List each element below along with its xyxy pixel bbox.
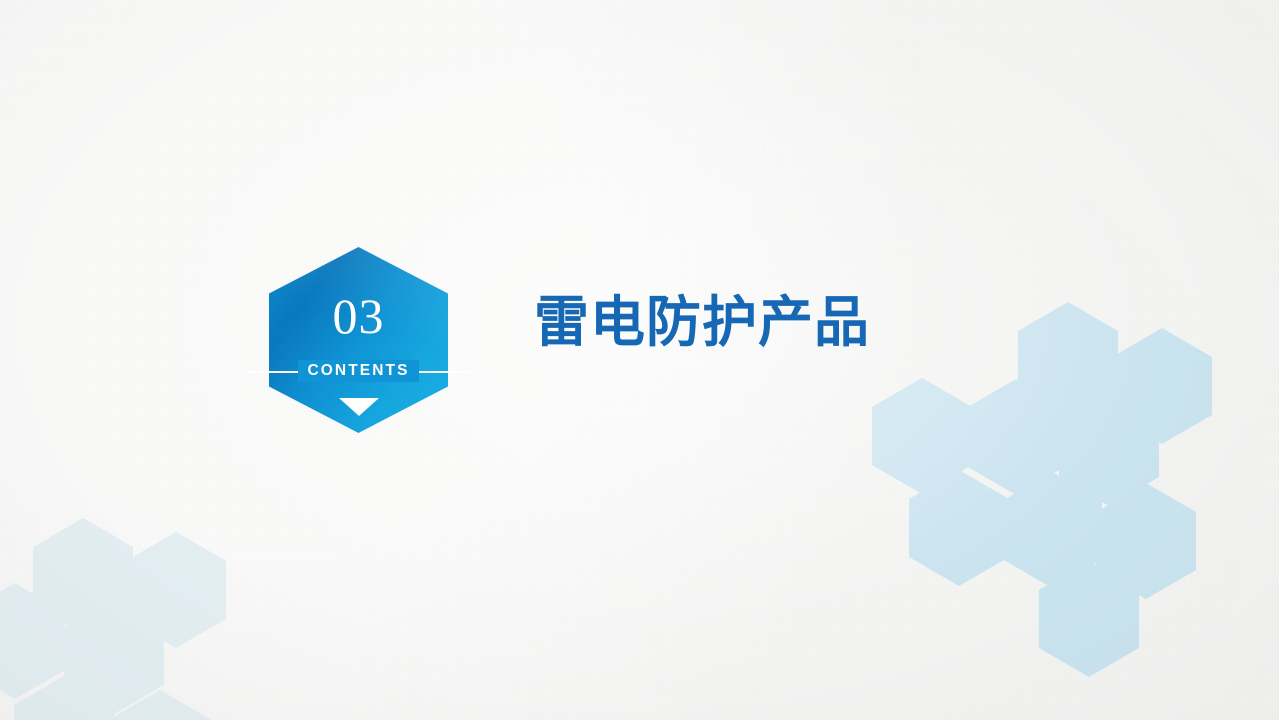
section-number: 03	[269, 291, 448, 341]
presentation-slide: 03 CONTENTS 雷电防护产品	[0, 0, 1279, 720]
page-title: 雷电防护产品	[534, 289, 870, 355]
badge-label-wrapper: CONTENTS	[269, 360, 448, 382]
triangle-down-icon	[339, 398, 379, 416]
contents-badge: 03 CONTENTS	[269, 247, 448, 433]
badge-label: CONTENTS	[298, 360, 418, 382]
